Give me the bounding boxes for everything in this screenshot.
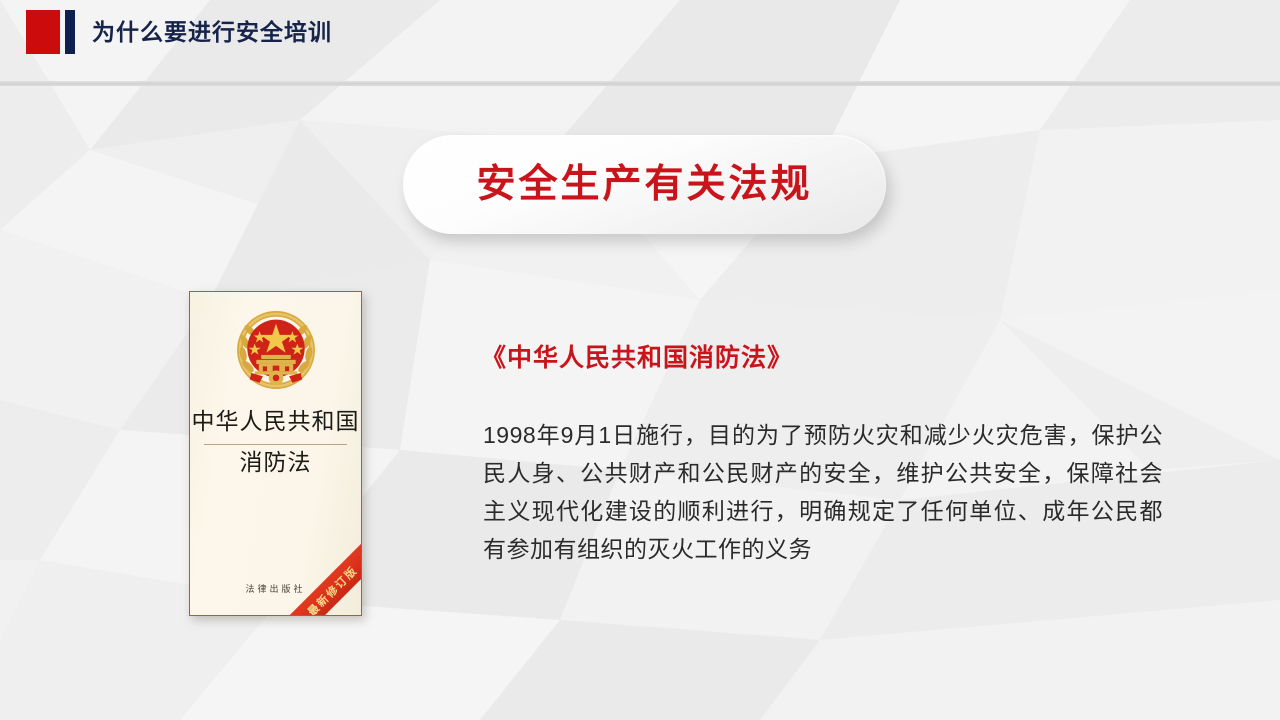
- law-description-text: 1998年9月1日施行，目的为了预防火灾和减少火灾危害，保护公民人身、公共财产和…: [483, 416, 1163, 568]
- book-edition-ribbon: 最新修订版: [270, 529, 362, 616]
- national-emblem-icon: [235, 309, 317, 391]
- header-divider: [0, 81, 1280, 86]
- book-title-line1: 中华人民共和国: [190, 406, 361, 437]
- slide-header: 为什么要进行安全培训: [0, 0, 1280, 82]
- book-title-line2: 消防法: [190, 447, 361, 478]
- book-cover-image: 中华人民共和国 消防法 法律出版社 最新修订版: [189, 291, 362, 616]
- slide-canvas: 为什么要进行安全培训 安全生产有关法规: [0, 0, 1280, 720]
- header-red-block-icon: [26, 10, 60, 54]
- header-navy-bar-icon: [65, 10, 75, 54]
- section-title-pill: 安全生产有关法规: [403, 135, 886, 234]
- section-title-text: 安全生产有关法规: [476, 163, 812, 207]
- book-title-rule: [204, 444, 347, 445]
- law-name-heading: 《中华人民共和国消防法》: [481, 340, 793, 376]
- page-title: 为什么要进行安全培训: [92, 17, 332, 47]
